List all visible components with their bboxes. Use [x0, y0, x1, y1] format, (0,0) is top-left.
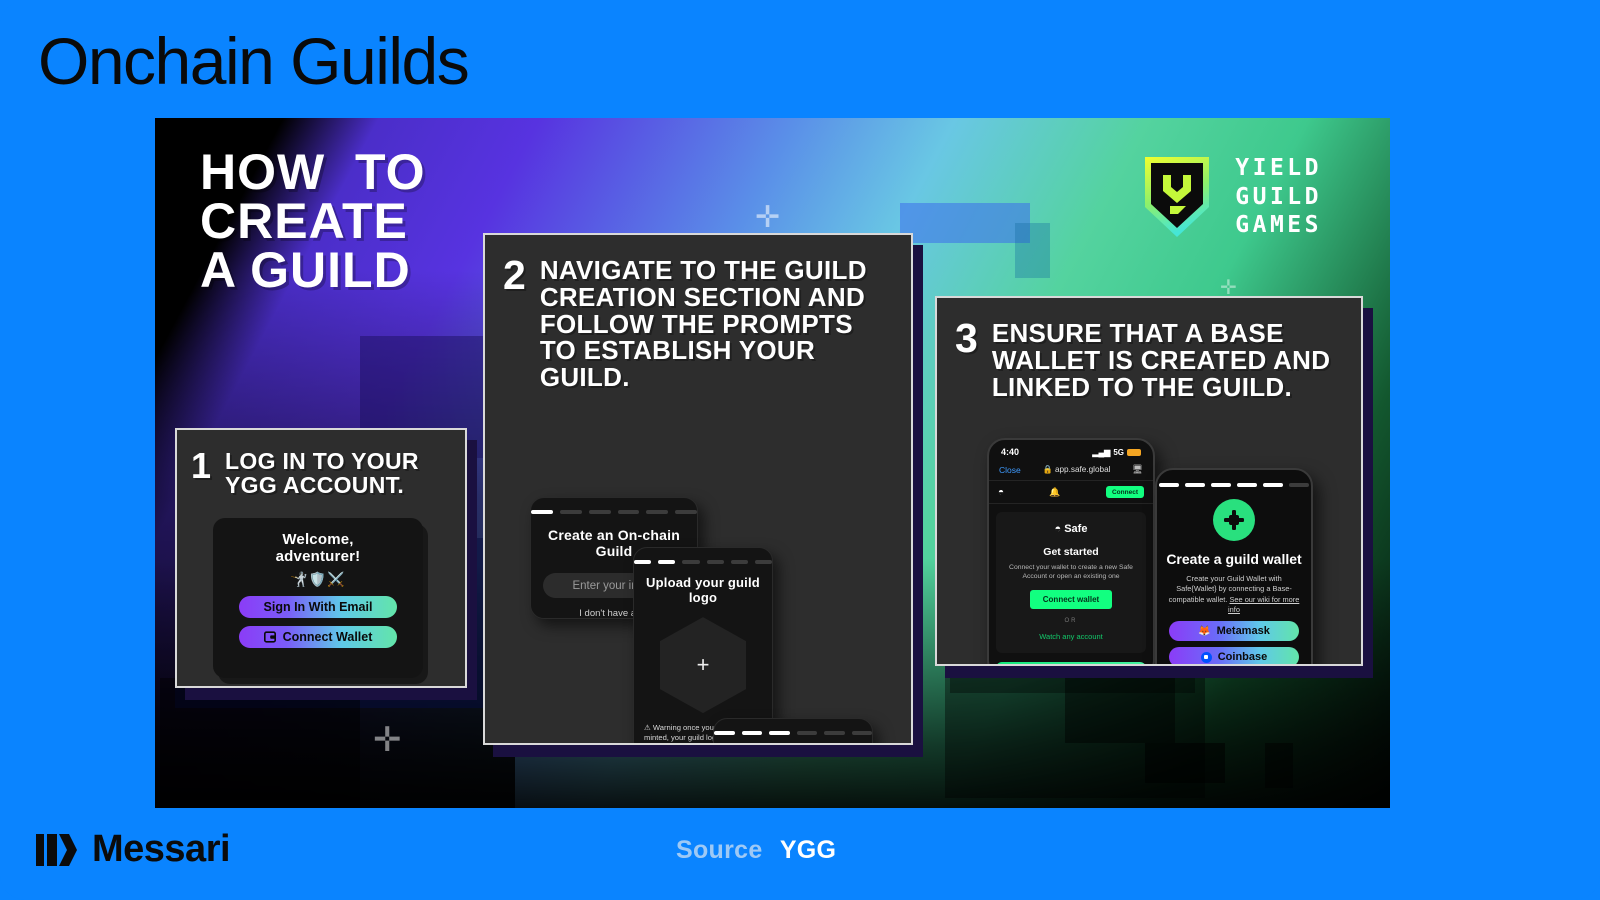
coinbase-label: Coinbase: [1218, 651, 1268, 663]
source-value: YGG: [780, 836, 836, 864]
metamask-button[interactable]: 🦊 Metamask: [1169, 621, 1299, 641]
progress-dots: [714, 719, 872, 735]
safe-logo-icon: ◓: [1055, 523, 1062, 535]
step-3-number: 3: [955, 320, 978, 356]
safe-brand: ◓ Safe: [1004, 523, 1138, 535]
progress-dot: [742, 731, 763, 735]
ygg-wordmark-line: GAMES: [1235, 211, 1322, 240]
safe-app-phone: 4:40 ▂▄▆ 5G Close 🔒 app.safe.global 🖥 ◓ …: [987, 438, 1155, 666]
upload-logo-title: Upload your guild logo: [634, 576, 772, 605]
plus-decor-icon: ✛: [373, 723, 402, 757]
source-label: Source: [676, 836, 763, 864]
watch-any-account-link[interactable]: Watch any account: [1004, 632, 1138, 641]
adventurer-emojis: 🤺🛡️⚔️: [229, 571, 407, 588]
browser-bar: Close 🔒 app.safe.global 🖥: [989, 459, 1153, 481]
browser-close-button[interactable]: Close: [999, 465, 1021, 475]
wallet-icon: [264, 631, 276, 643]
decor-rect: [900, 203, 1030, 243]
decor-rect: [1265, 743, 1293, 788]
progress-dot: [1237, 483, 1257, 487]
progress-dot: [769, 731, 790, 735]
status-indicators: ▂▄▆ 5G: [1092, 448, 1141, 457]
progress-dot: [646, 510, 668, 514]
bell-icon[interactable]: 🔔: [1049, 487, 1060, 498]
source-attribution: Source YGG: [676, 836, 836, 865]
safe-mark-icon: [1222, 508, 1246, 532]
progress-dot: [1185, 483, 1205, 487]
progress-dot: [1159, 483, 1179, 487]
progress-dot: [797, 731, 818, 735]
decor-rect: [1065, 673, 1175, 743]
browser-share-icon[interactable]: 🖥: [1132, 464, 1143, 475]
ygg-wordmark-line: YIELD: [1235, 154, 1322, 183]
infographic-page: Onchain Guilds ✛ ✛ ✛ HOW TO CREATE A GUI…: [0, 0, 1600, 900]
coinbase-button[interactable]: Coinbase: [1169, 647, 1299, 666]
messari-wordmark: Messari: [92, 828, 230, 871]
wiki-link[interactable]: See our wiki for more info: [1228, 595, 1299, 614]
step-2-header: 2 NAVIGATE TO THE GUILD CREATION SECTION…: [485, 235, 911, 391]
safe-app-bar: ◓ 🔔 Connect: [989, 481, 1153, 504]
progress-dot: [714, 731, 735, 735]
logo-upload-hex-dropzone[interactable]: +: [660, 617, 746, 713]
decor-rect: [1145, 743, 1225, 783]
login-title-line-2: adventurer!: [229, 549, 407, 566]
guild-wallet-icon: [1213, 499, 1255, 541]
hero-title-line: A GUILD: [200, 246, 426, 295]
progress-dot: [1289, 483, 1309, 487]
page-title: Onchain Guilds: [38, 28, 468, 95]
step-2-number: 2: [503, 257, 526, 293]
safe-brand-label: Safe: [1064, 523, 1087, 535]
browser-url: 🔒 app.safe.global: [1042, 465, 1110, 475]
ygg-login-modal: Welcome, adventurer! 🤺🛡️⚔️ Sign In With …: [213, 518, 423, 678]
safe-body-text: Connect your wallet to create a new Safe…: [1004, 563, 1138, 581]
progress-dot: [675, 510, 697, 514]
step-3-header: 3 ENSURE THAT A BASE WALLET IS CREATED A…: [937, 298, 1361, 400]
ygg-wordmark: YIELD GUILD GAMES: [1235, 154, 1322, 240]
progress-dot: [707, 560, 724, 564]
step-3-text: ENSURE THAT A BASE WALLET IS CREATED AND…: [992, 320, 1341, 400]
network-label: 5G: [1113, 448, 1124, 457]
connect-wallet-label: Connect Wallet: [283, 630, 373, 644]
guild-wallet-phone: Create a guild wallet Create your Guild …: [1155, 468, 1313, 666]
unlock-banner[interactable]: Unlock a new: [996, 662, 1146, 666]
battery-icon: [1127, 449, 1141, 456]
step-1-text: LOG IN TO YOUR YGG ACCOUNT.: [225, 450, 449, 497]
plus-decor-icon: ✛: [1220, 278, 1237, 298]
guild-wallet-title: Create a guild wallet: [1157, 551, 1311, 567]
progress-dot: [682, 560, 699, 564]
sign-in-email-label: Sign In With Email: [264, 600, 373, 614]
progress-dots: [634, 548, 772, 564]
ygg-shield-icon: [1137, 151, 1217, 243]
progress-dots: [531, 498, 697, 514]
decor-rect: [1015, 223, 1050, 278]
safe-divider-label: OR: [1004, 618, 1138, 624]
hero-title: HOW TO CREATE A GUILD: [200, 148, 426, 295]
coinbase-icon: [1201, 652, 1212, 663]
progress-dot: [1263, 483, 1283, 487]
progress-dot: [824, 731, 845, 735]
step-1-card: 1 LOG IN TO YOUR YGG ACCOUNT. Welcome, a…: [175, 428, 467, 688]
progress-dot: [658, 560, 675, 564]
status-time: 4:40: [1001, 447, 1019, 457]
footer: Messari Source YGG: [0, 808, 1600, 900]
plus-icon: +: [697, 652, 710, 678]
login-title-line-1: Welcome,: [229, 532, 407, 549]
metamask-icon: 🦊: [1198, 626, 1210, 637]
step-1-header: 1 LOG IN TO YOUR YGG ACCOUNT.: [177, 430, 465, 497]
progress-dot: [531, 510, 553, 514]
login-modal-title: Welcome, adventurer!: [229, 532, 407, 566]
upload-logo-dialog: Upload your guild logo + ⚠ Warning once …: [633, 547, 773, 745]
step-2-text: NAVIGATE TO THE GUILD CREATION SECTION A…: [540, 257, 891, 391]
metamask-label: Metamask: [1217, 625, 1270, 637]
hero-title-line: CREATE: [200, 197, 426, 246]
connect-chip-button[interactable]: Connect: [1106, 486, 1144, 498]
messari-logo-icon: [36, 830, 78, 870]
phone-status-bar: 4:40 ▂▄▆ 5G: [989, 440, 1153, 459]
hero-panel: ✛ ✛ ✛ HOW TO CREATE A GUILD: [155, 118, 1390, 808]
progress-dot: [731, 560, 748, 564]
step-1-number: 1: [191, 450, 211, 482]
progress-dot: [589, 510, 611, 514]
progress-dot: [618, 510, 640, 514]
progress-dot: [1211, 483, 1231, 487]
messari-brand: Messari: [36, 828, 230, 871]
progress-dots: [1157, 470, 1311, 487]
progress-dot: [560, 510, 582, 514]
progress-dot: [852, 731, 873, 735]
signal-icon: ▂▄▆: [1092, 448, 1110, 457]
ygg-logo: YIELD GUILD GAMES: [1137, 151, 1322, 243]
hero-title-line: HOW TO: [200, 148, 426, 197]
progress-dot: [634, 560, 651, 564]
safe-connect-wallet-button[interactable]: Connect wallet: [1030, 590, 1112, 609]
step-3-card: 3 ENSURE THAT A BASE WALLET IS CREATED A…: [935, 296, 1363, 666]
progress-dot: [755, 560, 772, 564]
connect-wallet-button[interactable]: Connect Wallet: [239, 626, 397, 648]
safe-logo-icon: ◓: [998, 487, 1004, 498]
safe-get-started-card: ◓ Safe Get started Connect your wallet t…: [996, 512, 1146, 653]
guild-name-dialog: What's your guild name? Guild Name Revie…: [713, 718, 873, 745]
ygg-wordmark-line: GUILD: [1235, 183, 1322, 212]
step-2-card: 2 NAVIGATE TO THE GUILD CREATION SECTION…: [483, 233, 913, 745]
sign-in-with-email-button[interactable]: Sign In With Email: [239, 596, 397, 618]
url-text: app.safe.global: [1055, 465, 1111, 474]
safe-heading: Get started: [1004, 546, 1138, 558]
guild-wallet-description: Create your Guild Wallet with Safe{Walle…: [1167, 574, 1301, 615]
plus-decor-icon: ✛: [755, 203, 780, 233]
